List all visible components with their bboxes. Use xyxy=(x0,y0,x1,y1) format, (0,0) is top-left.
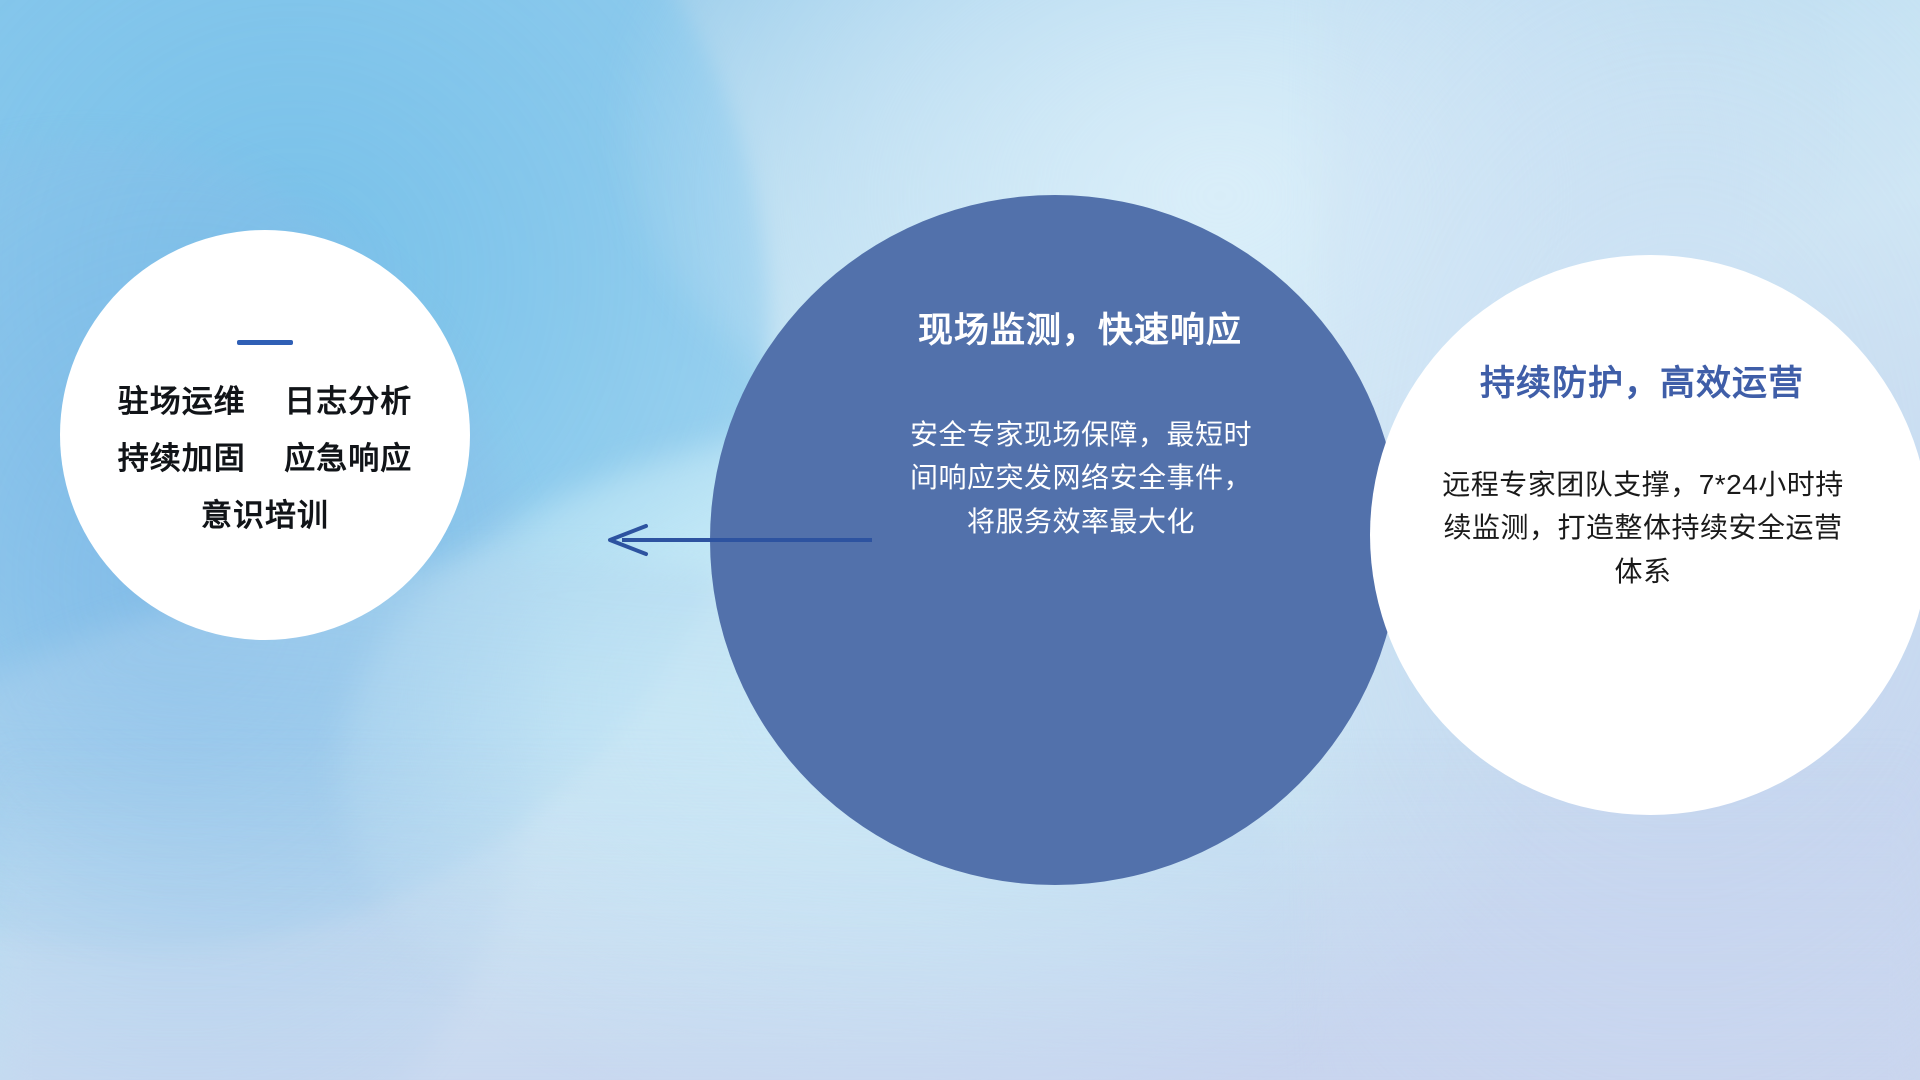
left-service-list: 驻场运维 日志分析 持续加固 应急响应 意识培训 xyxy=(118,386,412,531)
left-service-line-3: 意识培训 xyxy=(118,500,412,531)
left-service-line-2: 持续加固 应急响应 xyxy=(118,443,412,474)
dash-divider-icon xyxy=(237,340,293,345)
left-service-circle: 驻场运维 日志分析 持续加固 应急响应 意识培训 xyxy=(60,230,470,640)
left-service-line-1: 驻场运维 日志分析 xyxy=(118,386,412,417)
arrow-left-icon xyxy=(600,520,875,560)
right-operations-circle xyxy=(1370,255,1920,815)
